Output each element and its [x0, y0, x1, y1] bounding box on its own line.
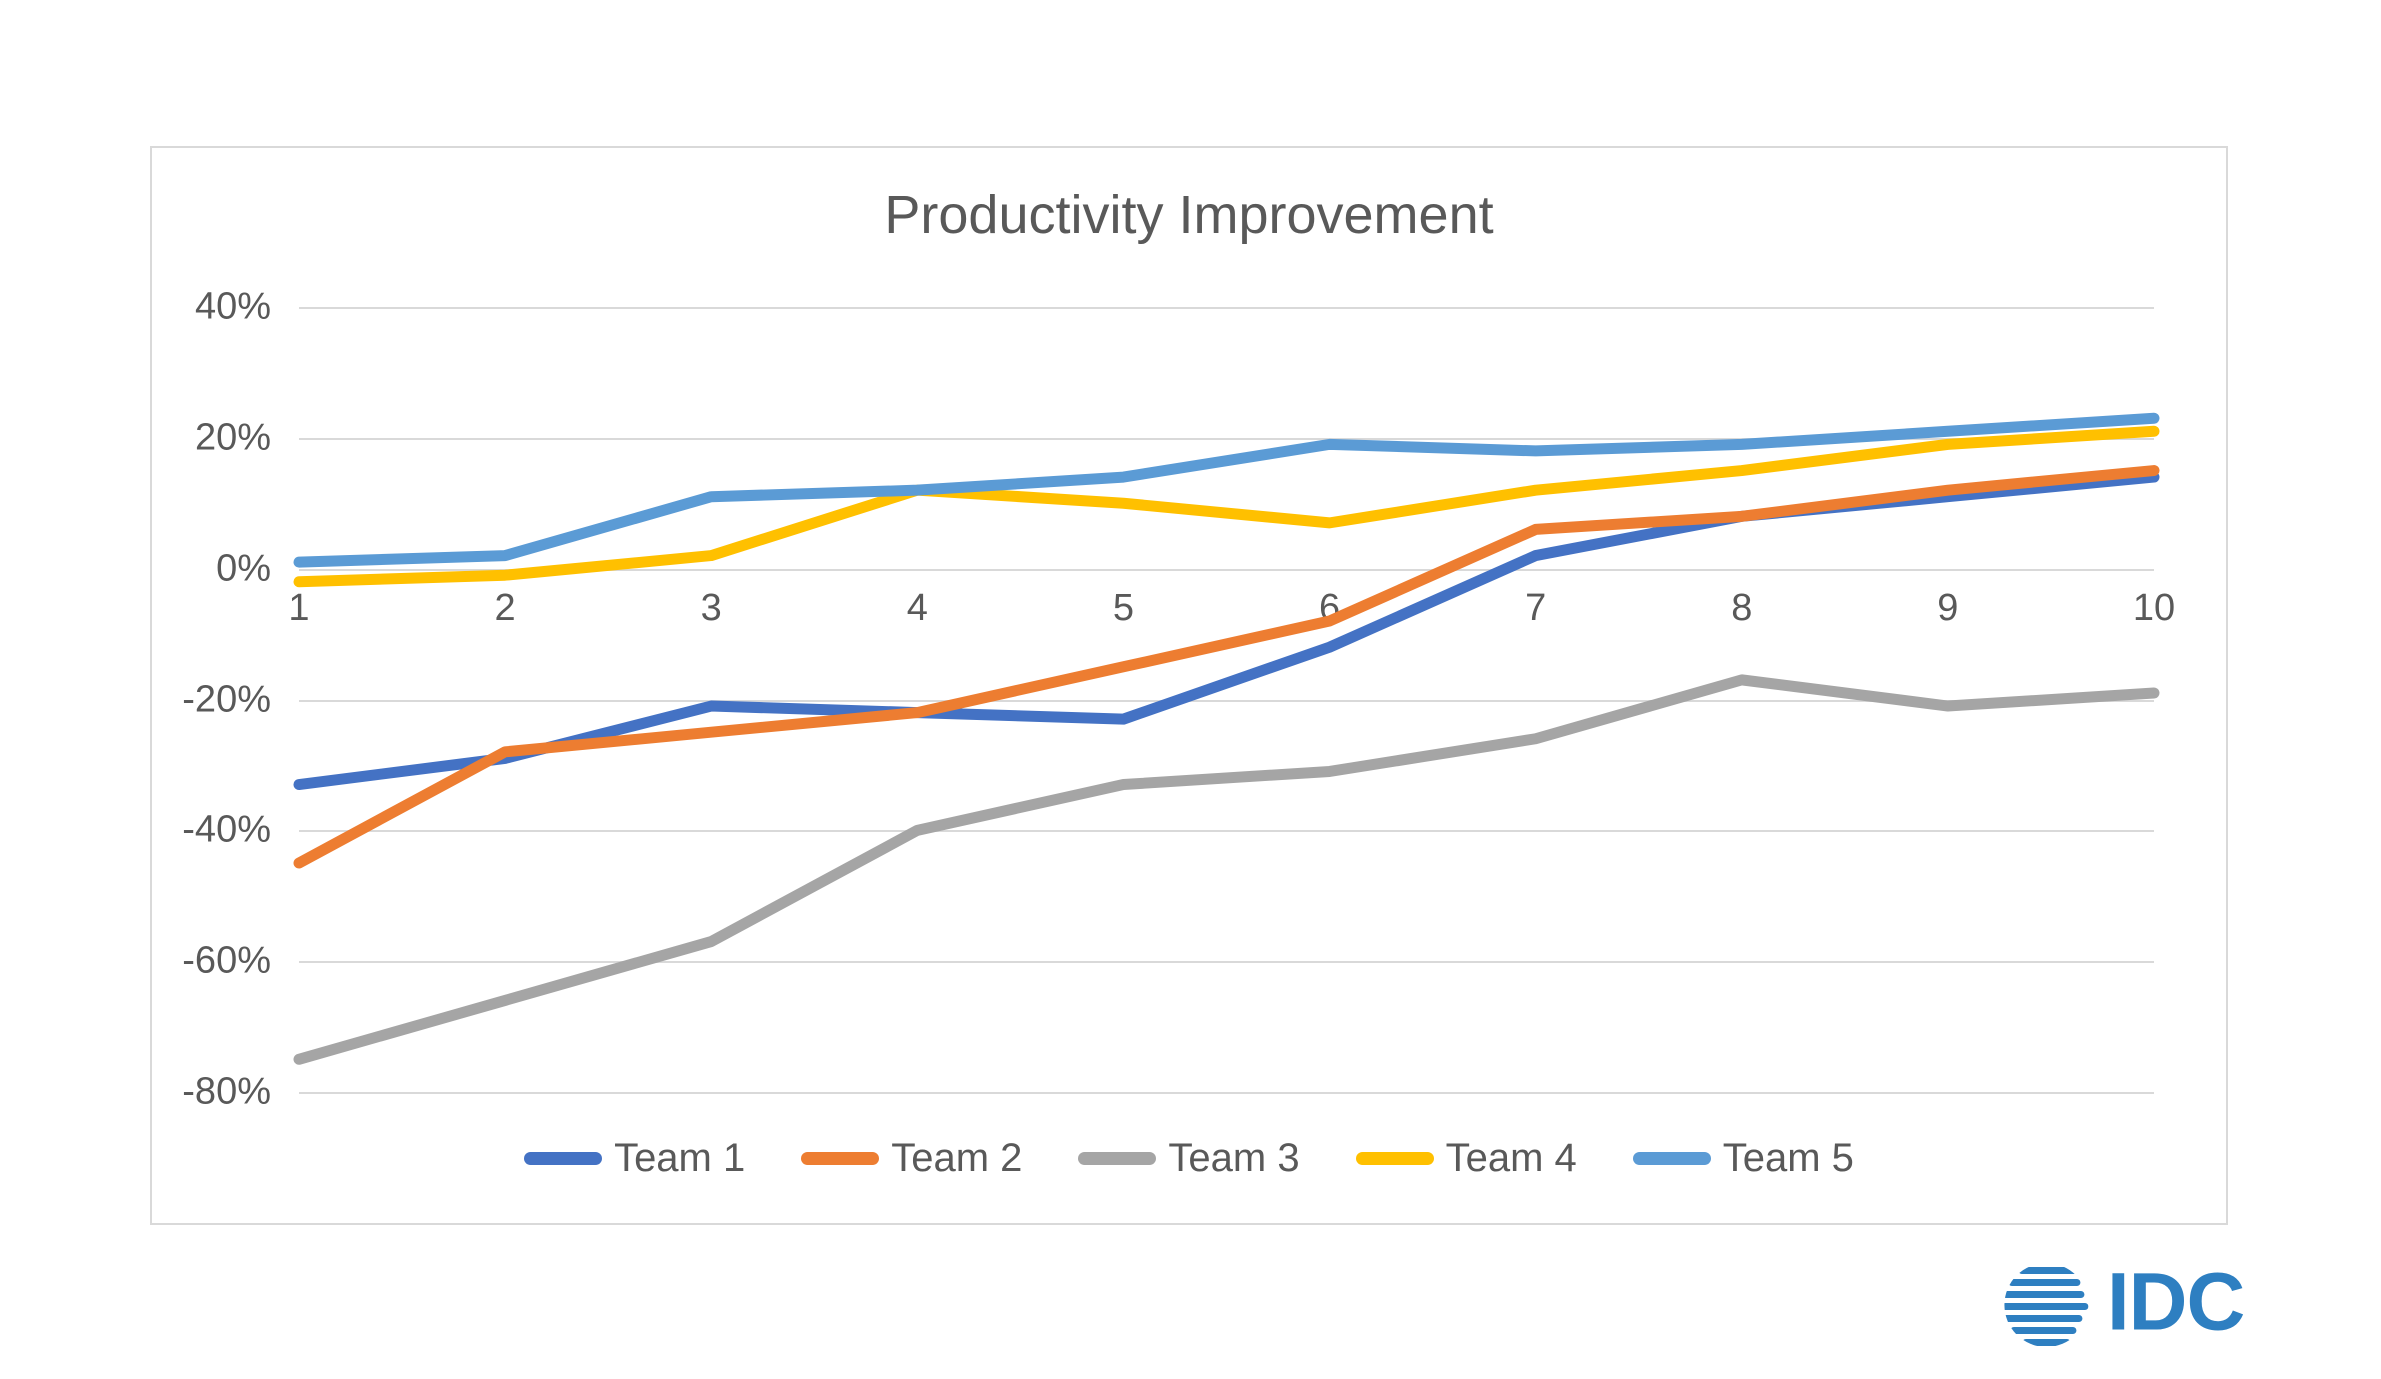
- y-axis-tick-label: -20%: [182, 678, 271, 721]
- series-line-team-1: [299, 477, 2154, 784]
- idc-logo: IDC: [1996, 1253, 2262, 1357]
- y-axis-tick-label: -80%: [182, 1071, 271, 1114]
- legend-label: Team 3: [1168, 1136, 1299, 1181]
- series-lines-group: [299, 307, 2154, 1092]
- legend-item-team-5[interactable]: Team 5: [1633, 1136, 1854, 1181]
- gridline: [299, 1092, 2154, 1094]
- legend-item-team-4[interactable]: Team 4: [1356, 1136, 1577, 1181]
- legend-swatch-icon: [1356, 1152, 1434, 1165]
- legend-item-team-3[interactable]: Team 3: [1078, 1136, 1299, 1181]
- legend-swatch-icon: [801, 1152, 879, 1165]
- y-axis-tick-label: 0%: [216, 547, 271, 590]
- chart-title: Productivity Improvement: [152, 184, 2226, 246]
- legend-swatch-icon: [1078, 1152, 1156, 1165]
- legend-swatch-icon: [1633, 1152, 1711, 1165]
- y-axis-tick-label: 40%: [195, 286, 271, 329]
- y-axis-tick-label: -60%: [182, 940, 271, 983]
- legend-item-team-2[interactable]: Team 2: [801, 1136, 1022, 1181]
- idc-wordmark: IDC: [2107, 1260, 2262, 1350]
- y-axis-tick-label: -40%: [182, 809, 271, 852]
- legend-label: Team 1: [614, 1136, 745, 1181]
- chart-container: Productivity Improvement 40%20%0%-20%-40…: [150, 146, 2228, 1225]
- legend-label: Team 2: [891, 1136, 1022, 1181]
- legend-item-team-1[interactable]: Team 1: [524, 1136, 745, 1181]
- legend-label: Team 4: [1446, 1136, 1577, 1181]
- legend-swatch-icon: [524, 1152, 602, 1165]
- chart-legend: Team 1Team 2Team 3Team 4Team 5: [152, 1136, 2226, 1181]
- svg-text:IDC: IDC: [2107, 1260, 2244, 1347]
- legend-label: Team 5: [1723, 1136, 1854, 1181]
- plot-area: 40%20%0%-20%-40%-60%-80% 12345678910: [299, 307, 2154, 1092]
- idc-globe-icon: [1996, 1255, 2097, 1355]
- y-axis-tick-label: 20%: [195, 416, 271, 459]
- series-line-team-5: [299, 418, 2154, 562]
